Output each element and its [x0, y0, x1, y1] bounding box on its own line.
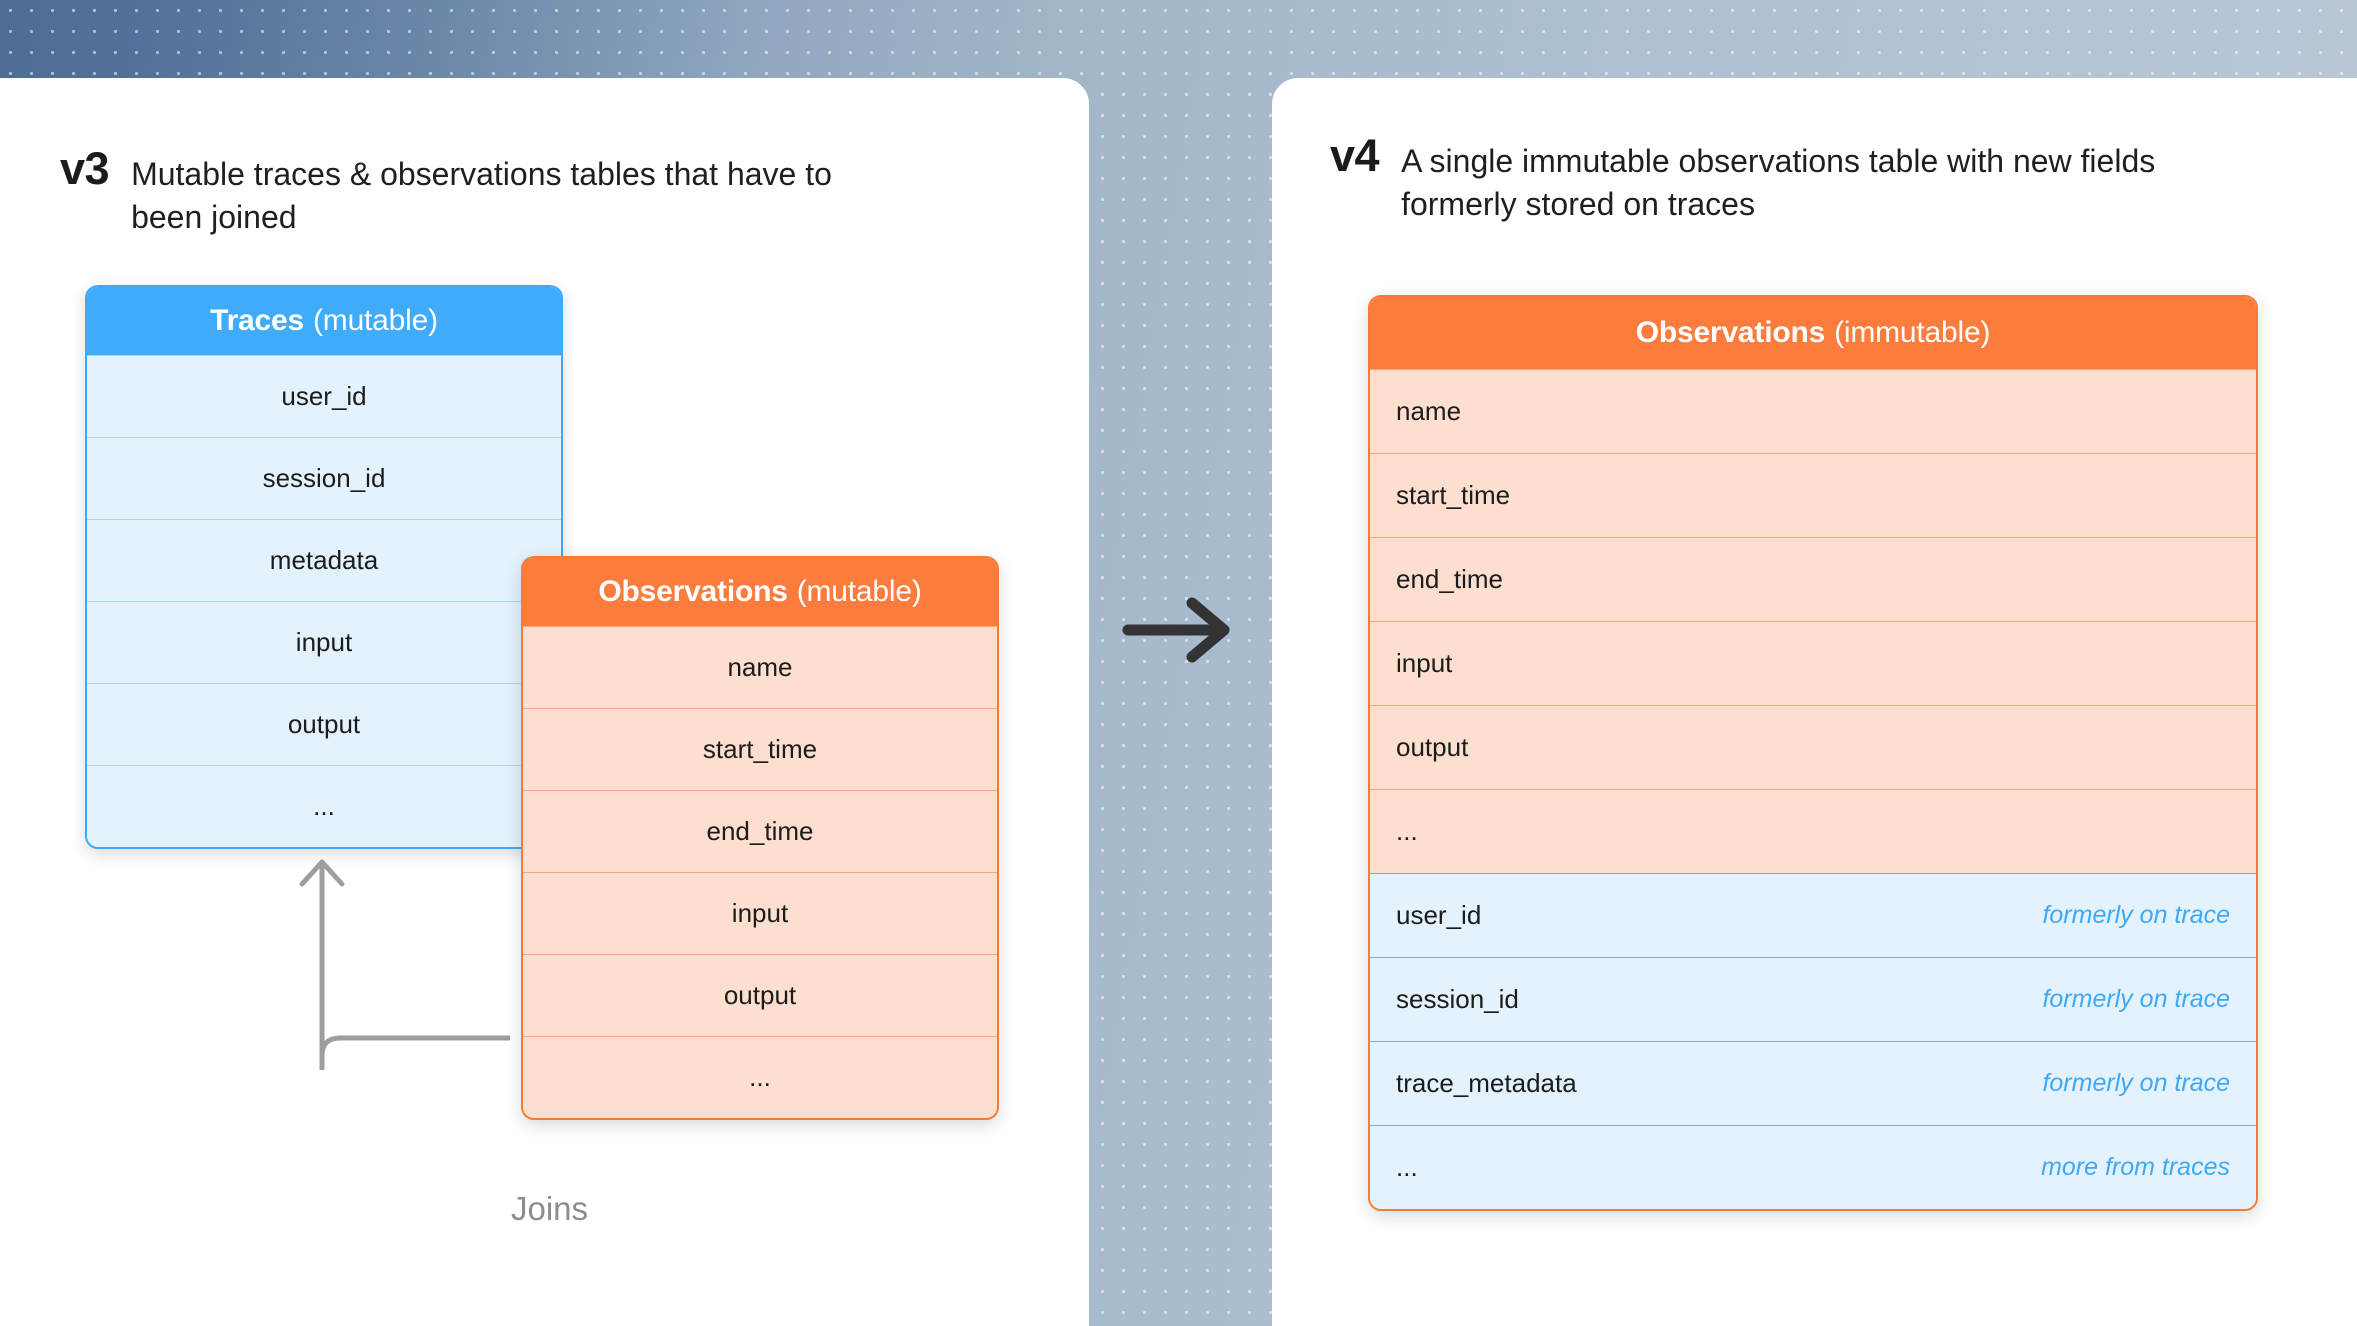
traces-table-title: Traces — [210, 304, 304, 338]
row-field: ... — [1396, 1152, 1418, 1183]
arrow-right-icon — [1120, 595, 1240, 665]
panel-v4-description: A single immutable observations table wi… — [1401, 132, 2181, 226]
table-row: session_id formerly on trace — [1370, 957, 2256, 1041]
traces-table-header: Traces (mutable) — [87, 287, 561, 355]
row-note: more from traces — [2041, 1153, 2230, 1182]
panel-v4-heading: v4 A single immutable observations table… — [1330, 132, 2181, 226]
observations-immutable-mutability: (immutable) — [1834, 316, 1990, 350]
traces-table: Traces (mutable) user_id session_id meta… — [85, 285, 563, 849]
panel-v3-heading: v3 Mutable traces & observations tables … — [60, 145, 911, 239]
table-row: user_id — [87, 355, 561, 437]
row-note: formerly on trace — [2042, 1069, 2230, 1098]
row-field: ... — [1396, 816, 1418, 847]
observations-immutable-header: Observations (immutable) — [1370, 297, 2256, 369]
table-row: input — [523, 872, 997, 954]
row-field: name — [1396, 396, 1461, 427]
diagram-canvas: v3 Mutable traces & observations tables … — [0, 0, 2357, 1326]
table-row: ... — [1370, 789, 2256, 873]
observations-mutable-title: Observations — [598, 575, 787, 609]
table-row: session_id — [87, 437, 561, 519]
table-row: ... more from traces — [1370, 1125, 2256, 1209]
table-row: start_time — [1370, 453, 2256, 537]
joins-left-line — [322, 1038, 510, 1070]
table-row: trace_metadata formerly on trace — [1370, 1041, 2256, 1125]
observations-immutable-table: Observations (immutable) name start_time… — [1368, 295, 2258, 1211]
row-note: formerly on trace — [2042, 901, 2230, 930]
version-label-v4: v4 — [1330, 132, 1379, 180]
observations-mutable-header: Observations (mutable) — [523, 558, 997, 626]
row-field: trace_metadata — [1396, 1068, 1577, 1099]
traces-table-mutability: (mutable) — [313, 304, 438, 338]
table-row: user_id formerly on trace — [1370, 873, 2256, 957]
table-row: metadata — [87, 519, 561, 601]
version-label-v3: v3 — [60, 145, 109, 193]
row-field: output — [1396, 732, 1468, 763]
row-field: session_id — [1396, 984, 1519, 1015]
table-row: ... — [523, 1036, 997, 1118]
table-row: input — [87, 601, 561, 683]
observations-mutable-mutability: (mutable) — [797, 575, 922, 609]
row-field: input — [1396, 648, 1452, 679]
joins-label: Joins — [498, 1190, 601, 1228]
table-row: end_time — [1370, 537, 2256, 621]
observations-immutable-title: Observations — [1636, 316, 1825, 350]
table-row: output — [523, 954, 997, 1036]
table-row: end_time — [523, 790, 997, 872]
table-row: start_time — [523, 708, 997, 790]
table-row: ... — [87, 765, 561, 847]
observations-mutable-table: Observations (mutable) name start_time e… — [521, 556, 999, 1120]
table-row: output — [1370, 705, 2256, 789]
table-row: name — [523, 626, 997, 708]
row-field: end_time — [1396, 564, 1503, 595]
panel-v3-description: Mutable traces & observations tables tha… — [131, 145, 911, 239]
table-row: input — [1370, 621, 2256, 705]
row-field: start_time — [1396, 480, 1510, 511]
table-row: output — [87, 683, 561, 765]
row-note: formerly on trace — [2042, 985, 2230, 1014]
row-field: user_id — [1396, 900, 1481, 931]
table-row: name — [1370, 369, 2256, 453]
